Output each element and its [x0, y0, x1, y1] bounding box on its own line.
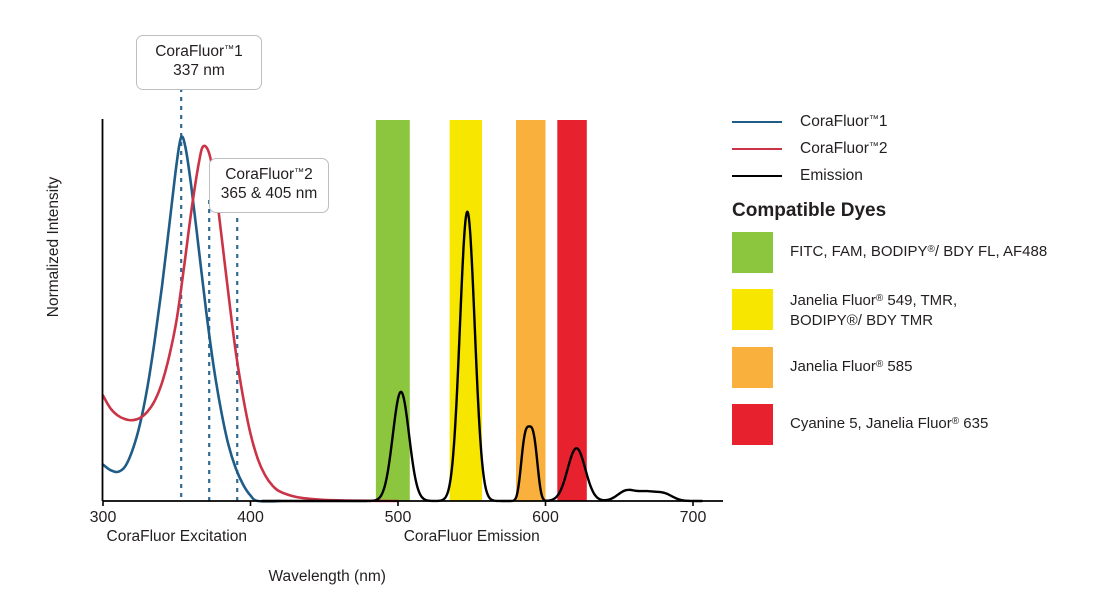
x-tick-600: 600: [516, 509, 576, 527]
callout1-line1: CoraFluor: [155, 43, 224, 60]
dye-name-suffix: / BDY FL, AF488: [935, 243, 1047, 260]
callout2-line2: 365 & 405 nm: [220, 185, 318, 204]
dye-name-text: Janelia Fluor: [790, 292, 876, 309]
callout1-suffix: 1: [234, 43, 243, 60]
dye-item-3[interactable]: Janelia Fluor® 585: [730, 347, 1110, 388]
region-label-excitation: CoraFluor Excitation: [67, 528, 287, 546]
dye-item-2[interactable]: Janelia Fluor® 549, TMR,BODIPY®/ BDY TMR: [730, 289, 1110, 331]
dye-item-1[interactable]: FITC, FAM, BODIPY®/ BDY FL, AF488: [730, 232, 1110, 273]
red-band: [557, 120, 587, 501]
dye-color-swatch: [732, 232, 773, 273]
dye-name-text: Janelia Fluor: [790, 358, 876, 375]
x-tick-400: 400: [221, 509, 281, 527]
legend-item-label: CoraFluor™2: [800, 140, 888, 158]
dye-label-line1: Janelia Fluor® 585: [790, 357, 912, 377]
dye-name-suffix: 585: [883, 358, 912, 375]
legend-line-swatch: [732, 175, 782, 177]
series-legend: CoraFluor™1CoraFluor™2Emission: [730, 108, 1110, 189]
legend-label-suffix: 1: [879, 113, 888, 130]
legend-line-swatch: [732, 121, 782, 123]
dye-label: Cyanine 5, Janelia Fluor® 635: [790, 404, 988, 434]
x-tick-700: 700: [663, 509, 723, 527]
orange-band: [516, 120, 546, 501]
dye-label-line1: Janelia Fluor® 549, TMR,: [790, 291, 957, 311]
legend-item-2[interactable]: CoraFluor™2: [730, 135, 1110, 162]
legend-item-3[interactable]: Emission: [730, 162, 1110, 189]
dye-color-swatch: [732, 347, 773, 388]
region-label-emission: CoraFluor Emission: [362, 528, 582, 546]
compatible-dyes-list: FITC, FAM, BODIPY®/ BDY FL, AF488Janelia…: [730, 232, 1110, 461]
dye-label-line2: BODIPY®/ BDY TMR: [790, 311, 957, 331]
dye-item-4[interactable]: Cyanine 5, Janelia Fluor® 635: [730, 404, 1110, 445]
dye-color-swatch: [732, 289, 773, 330]
legend-item-label: CoraFluor™1: [800, 113, 888, 131]
trademark-icon: ™: [294, 167, 304, 178]
dye-label-line1: Cyanine 5, Janelia Fluor® 635: [790, 414, 988, 434]
x-axis-title: Wavelength (nm): [207, 568, 447, 586]
y-axis-label: Normalized Intensity: [45, 167, 63, 327]
dye-color-swatch: [732, 404, 773, 445]
dye-name-text: FITC, FAM, BODIPY: [790, 243, 928, 260]
chart-panel: CoraFluor™1 337 nm CoraFluor™2 365 & 405…: [0, 0, 730, 612]
legend-label-text: CoraFluor: [800, 140, 869, 157]
legend-panel: CoraFluor™1CoraFluor™2Emission Compatibl…: [730, 0, 1110, 612]
trademark-icon: ™: [869, 113, 879, 124]
callout2-line1: CoraFluor: [225, 166, 294, 183]
dye-label: FITC, FAM, BODIPY®/ BDY FL, AF488: [790, 232, 1047, 262]
legend-label-text: Emission: [800, 167, 863, 184]
callout1-line2: 337 nm: [147, 62, 251, 81]
trademark-icon: ™: [224, 44, 234, 55]
dye-label: Janelia Fluor® 585: [790, 347, 912, 377]
spectra-figure: CoraFluor™1 337 nm CoraFluor™2 365 & 405…: [0, 0, 1110, 612]
callout-corafluor2: CoraFluor™2 365 & 405 nm: [209, 158, 329, 213]
registered-icon: ®: [928, 244, 935, 255]
callout2-suffix: 2: [304, 166, 313, 183]
legend-label-text: CoraFluor: [800, 113, 869, 130]
dye-name-text: Cyanine 5, Janelia Fluor: [790, 415, 952, 432]
dye-label: Janelia Fluor® 549, TMR,BODIPY®/ BDY TMR: [790, 289, 957, 331]
dye-label-line1: FITC, FAM, BODIPY®/ BDY FL, AF488: [790, 242, 1047, 262]
legend-item-1[interactable]: CoraFluor™1: [730, 108, 1110, 135]
legend-label-suffix: 2: [879, 140, 888, 157]
x-tick-500: 500: [368, 509, 428, 527]
legend-line-swatch: [732, 148, 782, 150]
dye-name-suffix: 549, TMR,: [883, 292, 957, 309]
dye-name-suffix: 635: [959, 415, 988, 432]
trademark-icon: ™: [869, 140, 879, 151]
x-tick-300: 300: [73, 509, 133, 527]
legend-item-label: Emission: [800, 167, 863, 185]
callout-corafluor1: CoraFluor™1 337 nm: [136, 35, 262, 90]
compatible-dyes-title: Compatible Dyes: [732, 200, 886, 222]
